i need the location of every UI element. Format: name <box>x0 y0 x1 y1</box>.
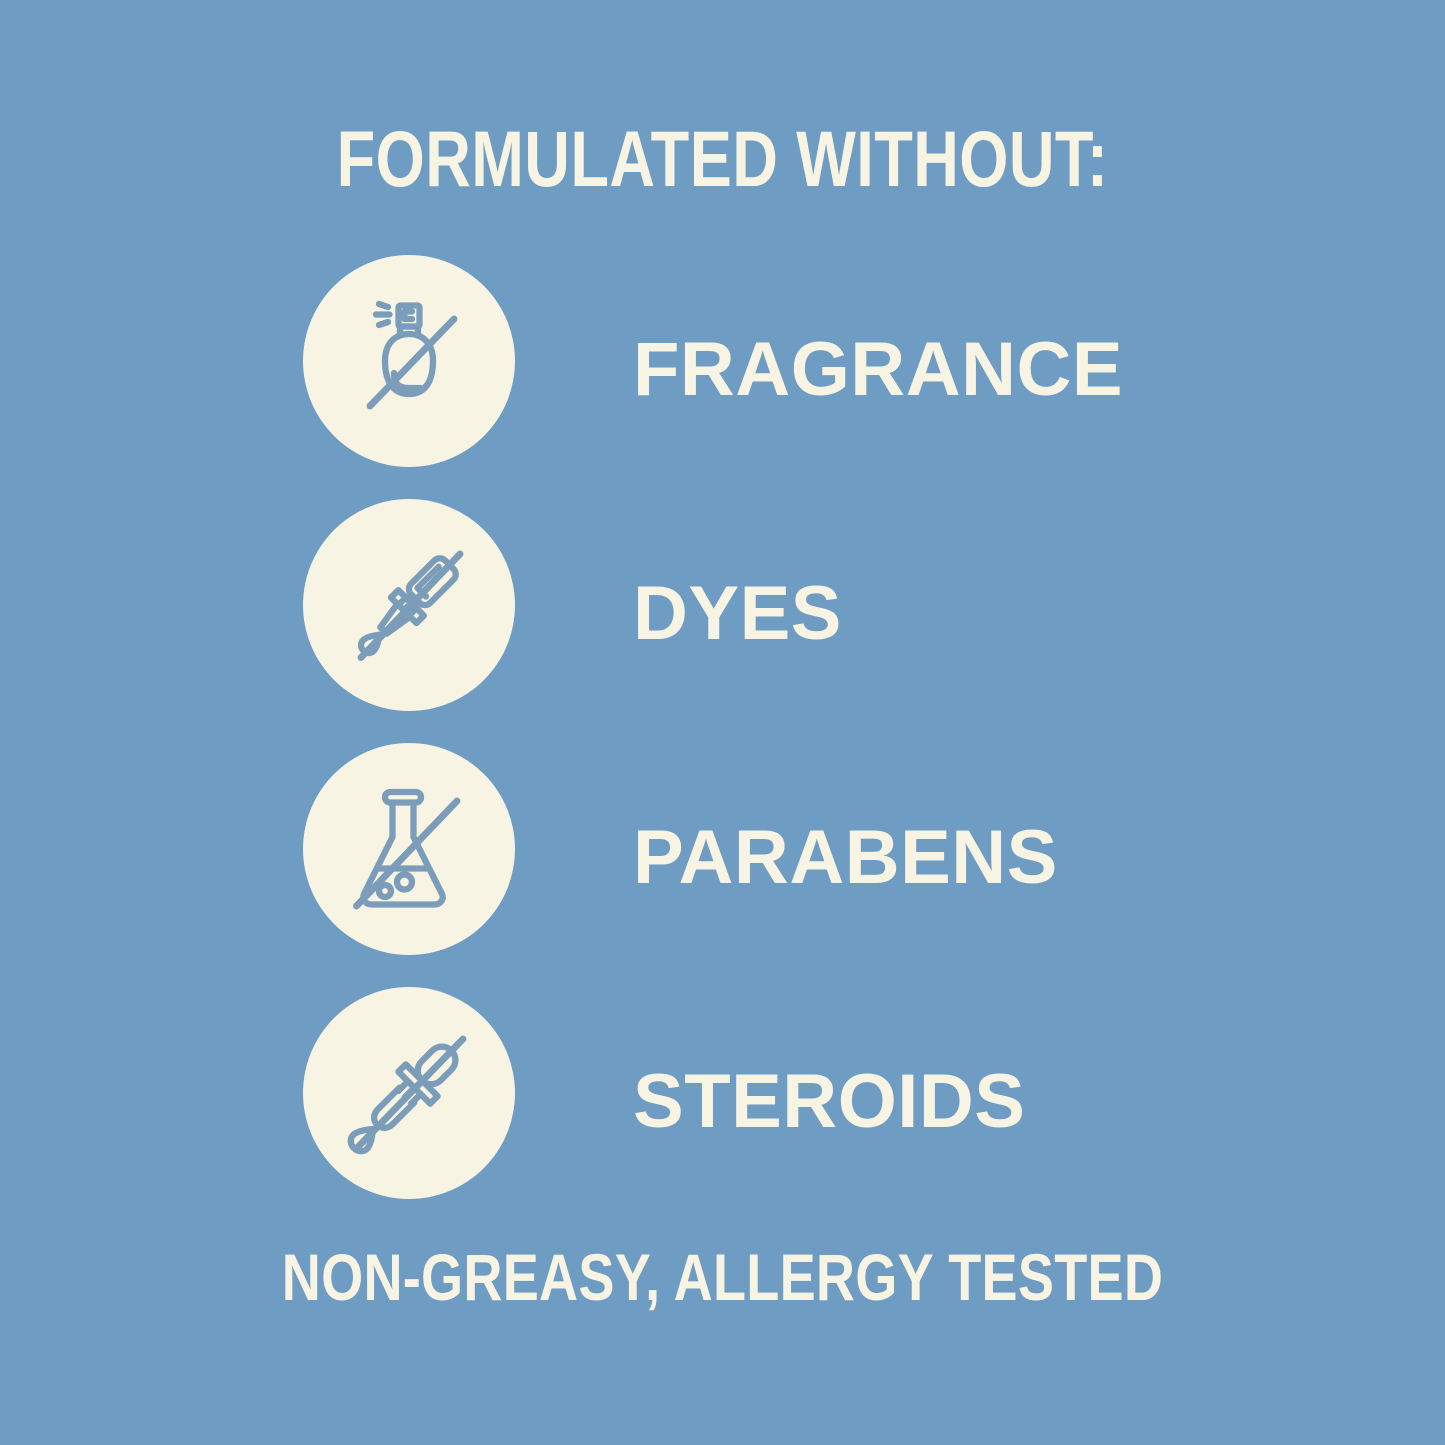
claim-label: FRAGRANCE <box>633 332 1123 408</box>
claim-badge-fragrance <box>303 255 515 467</box>
no-eyedropper-drop-icon <box>334 1018 484 1168</box>
claim-label: STEROIDS <box>633 1064 1026 1140</box>
footer-claim: NON-GREASY, ALLERGY TESTED <box>130 1243 1315 1312</box>
list-item: FRAGRANCE <box>0 248 1445 492</box>
claim-label: DYES <box>633 576 842 652</box>
claim-badge-dyes <box>303 499 515 711</box>
formulated-without-panel: FORMULATED WITHOUT: <box>0 0 1445 1445</box>
no-erlenmeyer-flask-icon <box>334 774 484 924</box>
claims-list: FRAGRANCE <box>0 248 1445 1224</box>
no-dropper-dye-icon <box>334 530 484 680</box>
claim-badge-steroids <box>303 987 515 1199</box>
claim-label: PARABENS <box>633 820 1058 896</box>
page-title: FORMULATED WITHOUT: <box>145 118 1301 201</box>
list-item: DYES <box>0 492 1445 736</box>
list-item: PARABENS <box>0 736 1445 980</box>
list-item: STEROIDS <box>0 980 1445 1224</box>
claim-badge-parabens <box>303 743 515 955</box>
no-perfume-spray-bottle-icon <box>334 286 484 436</box>
